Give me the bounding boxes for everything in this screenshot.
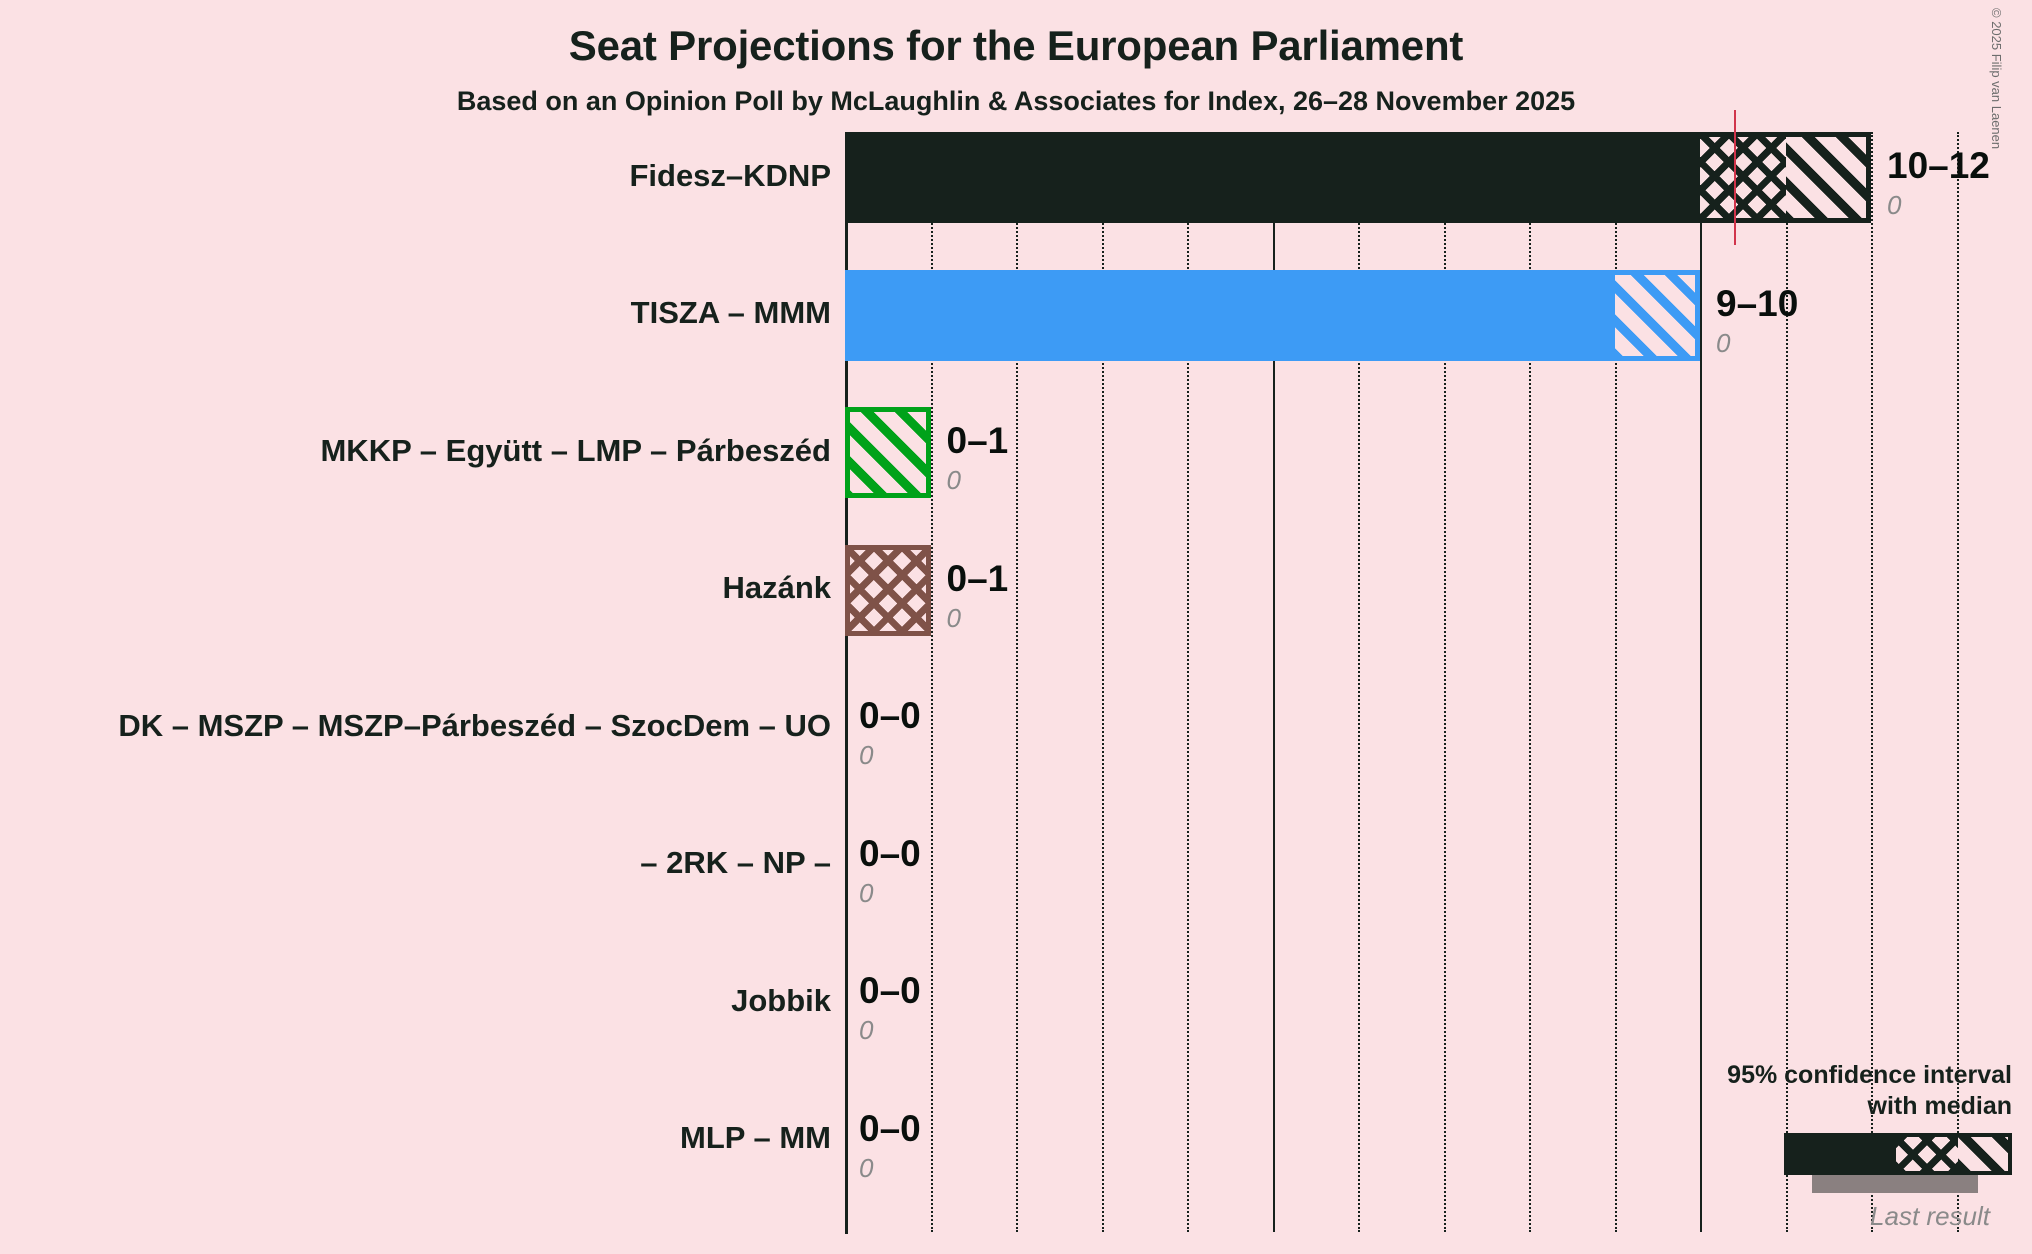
bar-segment-diagonal-0 — [1786, 132, 1872, 223]
chart-legend: 95% confidence interval with median Last… — [1727, 1060, 2012, 1232]
bar-segment-diagonal-2 — [845, 407, 931, 498]
legend-line-1: 95% confidence interval — [1727, 1060, 2012, 1091]
bar-0 — [845, 132, 1871, 223]
party-label-3: Hazánk — [722, 570, 831, 606]
legend-crosshatch-segment — [1896, 1137, 1958, 1171]
party-label-7: MLP – MM — [680, 1120, 831, 1156]
legend-line-2: with median — [1727, 1091, 2012, 1122]
seat-range-6: 0–0 — [859, 972, 921, 1009]
party-label-6: Jobbik — [731, 983, 831, 1019]
last-result-2: 0 — [947, 467, 1009, 493]
value-box-3: 0–10 — [947, 560, 1009, 631]
value-box-6: 0–00 — [859, 972, 921, 1043]
value-box-4: 0–00 — [859, 697, 921, 768]
bar-3 — [845, 545, 931, 636]
bar-2 — [845, 407, 931, 498]
bar-segment-solid-1 — [845, 270, 1615, 361]
seat-range-0: 10–12 — [1887, 147, 1990, 184]
legend-last-result-bar — [1812, 1175, 1978, 1193]
gridline-10 — [1700, 132, 1702, 1232]
last-result-4: 0 — [859, 742, 921, 768]
legend-sample-bar — [1784, 1133, 2012, 1175]
seat-range-3: 0–1 — [947, 560, 1009, 597]
value-box-5: 0–00 — [859, 835, 921, 906]
seat-range-4: 0–0 — [859, 697, 921, 734]
last-result-6: 0 — [859, 1017, 921, 1043]
bar-segment-solid-0 — [845, 132, 1700, 223]
party-label-5: – 2RK – NP – — [640, 845, 831, 881]
chart-canvas: Seat Projections for the European Parlia… — [0, 0, 2032, 1254]
party-label-4: DK – MSZP – MSZP–Párbeszéd – SzocDem – U… — [118, 708, 831, 744]
last-result-0: 0 — [1887, 192, 1990, 218]
page-title: Seat Projections for the European Parlia… — [0, 22, 2032, 70]
bar-segment-crosshatch-3 — [845, 545, 931, 636]
legend-last-result-label: Last result — [1727, 1201, 1990, 1232]
seat-range-7: 0–0 — [859, 1110, 921, 1147]
page-subtitle: Based on an Opinion Poll by McLaughlin &… — [0, 86, 2032, 117]
value-box-0: 10–120 — [1887, 147, 1990, 218]
value-box-7: 0–00 — [859, 1110, 921, 1181]
bar-segment-crosshatch-0 — [1700, 132, 1786, 223]
seat-range-5: 0–0 — [859, 835, 921, 872]
seat-range-2: 0–1 — [947, 422, 1009, 459]
value-box-2: 0–10 — [947, 422, 1009, 493]
median-line-0 — [1734, 110, 1736, 245]
legend-diagonal-segment — [1958, 1137, 2008, 1171]
seat-range-1: 9–10 — [1716, 285, 1798, 322]
last-result-7: 0 — [859, 1155, 921, 1181]
bar-1 — [845, 270, 1700, 361]
bar-segment-diagonal-1 — [1615, 270, 1701, 361]
party-label-1: TISZA – MMM — [631, 295, 831, 331]
last-result-3: 0 — [947, 605, 1009, 631]
party-label-0: Fidesz–KDNP — [629, 158, 831, 194]
party-label-2: MKKP – Együtt – LMP – Párbeszéd — [320, 433, 831, 469]
last-result-1: 0 — [1716, 330, 1798, 356]
last-result-5: 0 — [859, 880, 921, 906]
value-box-1: 9–100 — [1716, 285, 1798, 356]
copyright-notice: © 2025 Filip van Laenen — [1989, 8, 2004, 149]
